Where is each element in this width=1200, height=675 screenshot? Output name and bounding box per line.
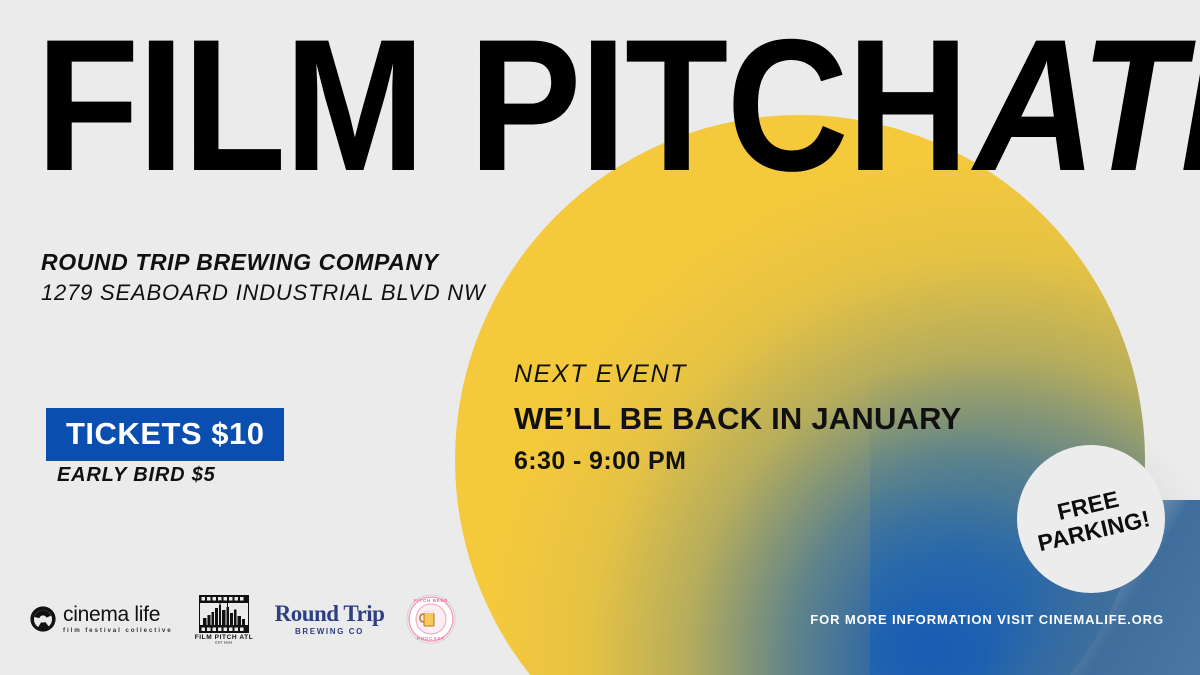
free-parking-text: FREE PARKING! [1029, 481, 1152, 557]
svg-text:FILM PITCH ATL: FILM PITCH ATL [195, 634, 253, 641]
venue-block: ROUND TRIP BREWING COMPANY 1279 SEABOARD… [41, 248, 486, 307]
page-title: FILM PITCHATL [36, 16, 1200, 195]
beer-mug-icon: PITCH BEER PODCAST [406, 594, 456, 644]
svg-text:PITCH BEER: PITCH BEER [414, 598, 448, 603]
tickets-price-badge[interactable]: TICKETS $10 [46, 408, 284, 461]
next-event-title: WE’LL BE BACK IN JANUARY [514, 401, 961, 437]
svg-text:EST 2020: EST 2020 [215, 641, 232, 645]
film-strip-skyline-icon: FILM PITCH ATL EST 2020 [195, 593, 253, 645]
free-parking-badge: FREE PARKING! [1017, 445, 1165, 593]
aperture-icon [30, 606, 56, 632]
sponsor-logo-row: cinema life film festival collective [30, 588, 456, 650]
logo-round-trip-brewing[interactable]: Round Trip BREWING CO [275, 602, 385, 636]
next-event-kicker: NEXT EVENT [514, 361, 961, 389]
early-bird-label: EARLY BIRD $5 [57, 464, 216, 487]
more-information-url[interactable]: FOR MORE INFORMATION VISIT CINEMALIFE.OR… [810, 612, 1164, 627]
round-trip-tagline: BREWING CO [275, 627, 385, 636]
next-event-block: NEXT EVENT WE’LL BE BACK IN JANUARY 6:30… [514, 361, 961, 476]
cinema-life-tagline: film festival collective [63, 628, 173, 634]
cinema-life-name: cinema life [63, 603, 160, 626]
event-flyer: FILM PITCHATL ROUND TRIP BREWING COMPANY… [0, 0, 1200, 675]
svg-text:PODCAST: PODCAST [417, 636, 445, 641]
cinema-life-wordmark: cinema life film festival collective [63, 604, 173, 634]
headline-accent: ATL [974, 0, 1200, 210]
headline-main: FILM PITCH [36, 0, 967, 210]
next-event-time: 6:30 - 9:00 PM [514, 447, 961, 476]
venue-address: 1279 SEABOARD INDUSTRIAL BLVD NW [41, 279, 486, 308]
venue-name: ROUND TRIP BREWING COMPANY [41, 248, 486, 277]
round-trip-name: Round Trip [275, 602, 385, 625]
logo-cinema-life[interactable]: cinema life film festival collective [30, 604, 173, 634]
logo-pitch-beer-podcast[interactable]: PITCH BEER PODCAST [406, 594, 456, 644]
logo-film-pitch-atl[interactable]: FILM PITCH ATL EST 2020 [195, 593, 253, 645]
